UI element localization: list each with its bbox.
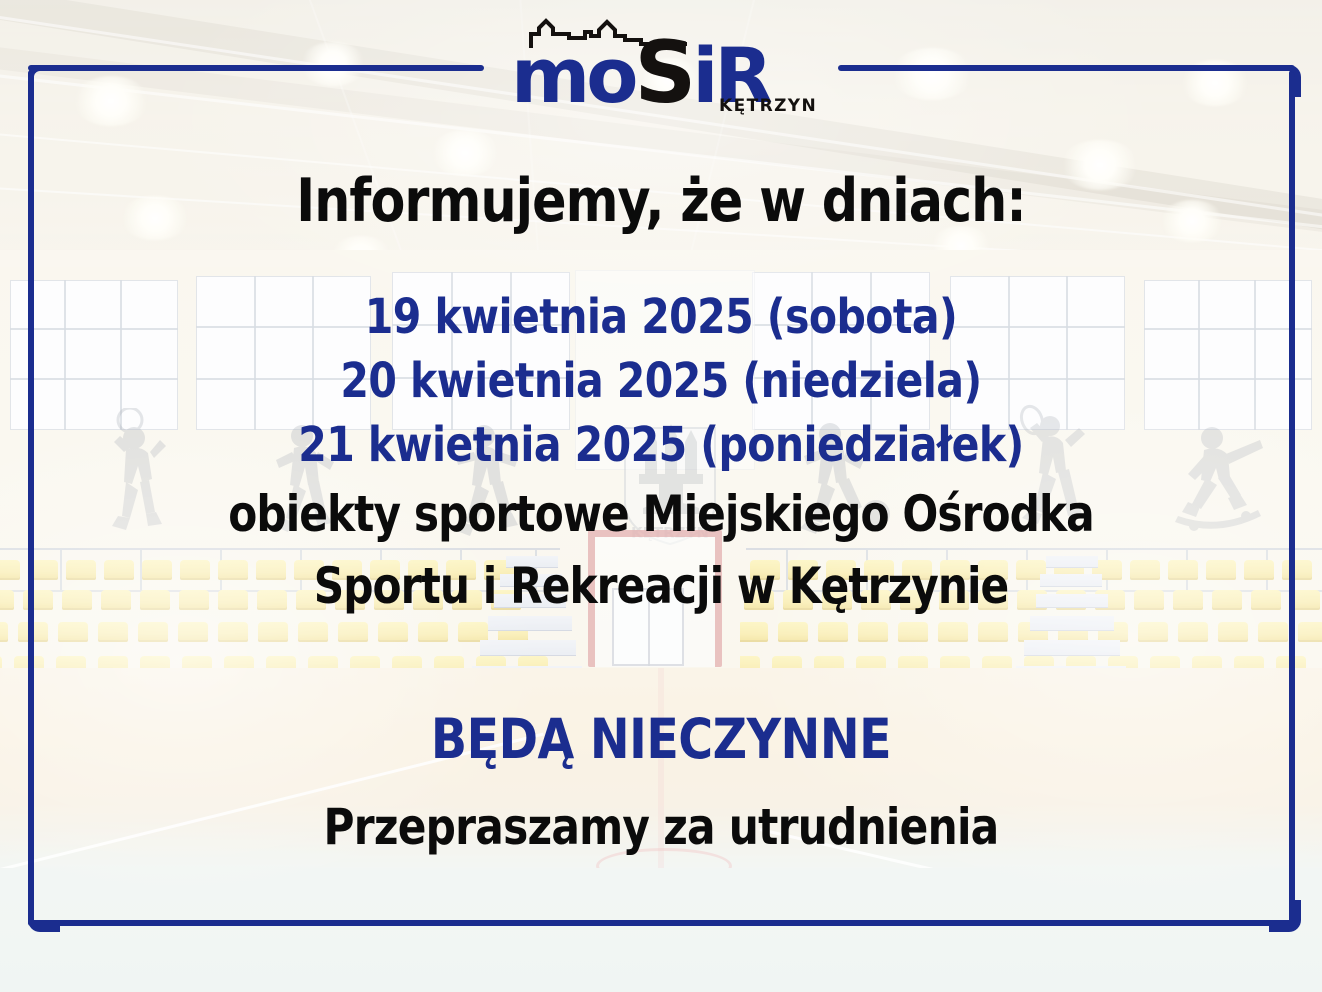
date-list: 19 kwietnia 2025 (sobota) 20 kwietnia 20…: [71, 285, 1251, 477]
closure-status: BĘDĄ NIECZYNNE: [65, 708, 1257, 770]
date-item-3: 21 kwietnia 2025 (poniedziałek): [71, 413, 1251, 477]
date-item-2: 20 kwietnia 2025 (niedziela): [71, 349, 1251, 413]
poster-content: Informujemy, że w dniach: 19 kwietnia 20…: [40, 80, 1282, 910]
date-item-1: 19 kwietnia 2025 (sobota): [71, 285, 1251, 349]
apology-text: Przepraszamy za utrudnienia: [77, 798, 1244, 856]
organization-line-1: obiekty sportowe Miejskiego Ośrodka: [77, 478, 1244, 550]
organization-line-2: Sportu i Rekreacji w Kętrzynie: [77, 550, 1244, 622]
poster: KĘTRZYN: [0, 0, 1322, 992]
organization-name: obiekty sportowe Miejskiego Ośrodka Spor…: [77, 478, 1244, 622]
headline: Informujemy, że w dniach:: [77, 168, 1244, 234]
